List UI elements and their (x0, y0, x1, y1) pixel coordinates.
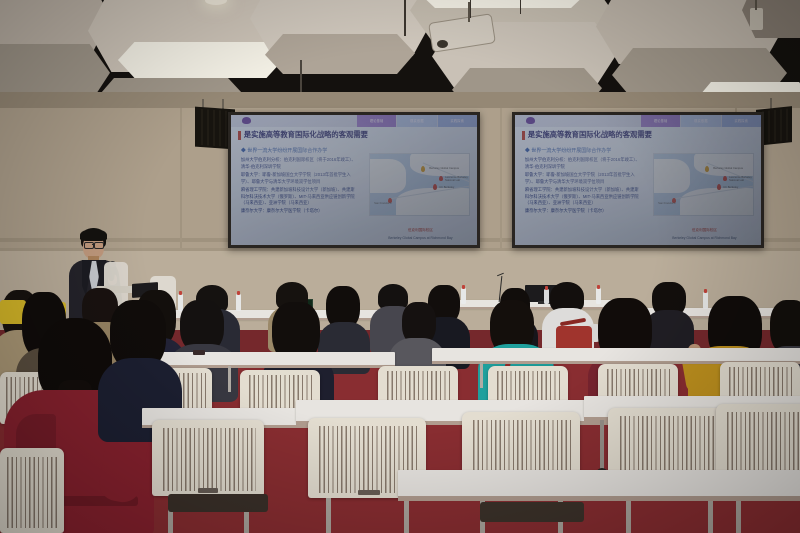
slide-right-bullet-1: 加州大学伯克利分校：伯克利国际校区（将于2016年竣工）、清华-伯克利深圳学院 (525, 157, 643, 169)
slide-left-tab-2: 现实依据 (397, 115, 436, 127)
slide-left-map-caption-cn: 伯克利国际校区 (371, 228, 469, 233)
table-foreground (398, 470, 800, 498)
slide-right-bullet-4: 康奈尔大学：康奈尔大学医学院（卡塔尔） (525, 208, 643, 214)
map-pin-berkeley-global-campus (421, 166, 425, 172)
seat-cushion (168, 494, 268, 512)
slide-left-bullets: 加州大学伯克利分校：伯克利国际校区（将于2016年竣工）、清华-伯克利深圳学院 … (241, 157, 359, 217)
slide-left-title: 是实施高等教育国际化战略的客观需要 (244, 130, 368, 140)
slide-left-bullet-3: 麻省理工学院：共建新加坡科技设计大学（新加坡）、共建斯科尔科沃技术大学（俄罗斯）… (241, 187, 359, 206)
slide-left-bullet-1: 加州大学伯克利分校：伯克利国际校区（将于2016年竣工）、清华-伯克利深圳学院 (241, 157, 359, 169)
slide-right-tab-3: 实践探索 (722, 115, 761, 127)
smartphone-on-table (193, 350, 205, 355)
slide-left-map: Berkeley Global Campus Lawrence Berkeley… (369, 153, 469, 217)
ceiling-light-panel (118, 42, 283, 78)
slide-left-topbar: 理论基础 现实依据 实践探索 (231, 115, 477, 127)
slide-right-title: 是实施高等教育国际化战略的客观需要 (528, 130, 652, 140)
water-bottle (544, 289, 549, 304)
slide-right-bullet-3: 麻省理工学院：共建新加坡科技设计大学（新加坡）、共建斯科尔科沃技术大学（俄罗斯）… (525, 187, 643, 206)
slide-left-tab-1: 理论基础 (357, 115, 396, 127)
seat-cushion (480, 502, 584, 522)
lecture-hall-photo: 理论基础 现实依据 实践探索 是实施高等教育国际化战略的客观需要 ◆ 世界一流大… (0, 0, 800, 533)
slide-right-tab-2: 现实依据 (681, 115, 720, 127)
slide-left-title-row: 是实施高等教育国际化战略的客观需要 (238, 130, 368, 140)
water-bottle (236, 294, 241, 311)
slide-right-tab-1: 理论基础 (641, 115, 680, 127)
map-pin-berkeley-global-campus (705, 166, 709, 172)
projection-screen-right: 理论基础 现实依据 实践探索 是实施高等教育国际化战略的客观需要 ◆ 世界一流大… (512, 112, 764, 248)
slide-left-bullet-2: 耶鲁大学：耶鲁-新加坡国立大学学院（2013年首批学生入学）、耶鲁大学与清华大学… (241, 172, 359, 184)
projector-lens (437, 40, 448, 48)
slide-right-topbar: 理论基础 现实依据 实践探索 (515, 115, 761, 127)
slide-right-map-caption-cn: 伯克利国际校区 (655, 228, 753, 233)
slide-left-subtitle: ◆ 世界一流大学纷纷开展国际合作办学 (241, 147, 327, 154)
water-bottle (596, 288, 601, 304)
slide-right-logo (515, 115, 547, 127)
slide-right-subtitle: ◆ 世界一流大学纷纷开展国际合作办学 (525, 147, 611, 154)
slide-right-map: Berkeley Global Campus Lawrence Berkeley… (653, 153, 753, 217)
slide-right-title-row: 是实施高等教育国际化战略的客观需要 (522, 130, 652, 140)
slide-right-bullets: 加州大学伯克利分校：伯克利国际校区（将于2016年竣工）、清华-伯克利深圳学院 … (525, 157, 643, 217)
projection-screen-left: 理论基础 现实依据 实践探索 是实施高等教育国际化战略的客观需要 ◆ 世界一流大… (228, 112, 480, 248)
ceiling-light-panel-2 (418, 0, 588, 8)
slide-right-map-caption-en: Berkeley Global Campus at Richmond Bay (655, 236, 753, 240)
slide-left-logo (231, 115, 263, 127)
map-pin-uc-berkeley (717, 184, 721, 190)
slide-left-tab-3: 实践探索 (438, 115, 477, 127)
table-mid-right (432, 348, 800, 362)
water-bottle (461, 288, 466, 304)
map-pin-uc-berkeley (433, 184, 437, 190)
slide-right-bullet-2: 耶鲁大学：耶鲁-新加坡国立大学学院（2013年首批学生入学）、耶鲁大学与清华大学… (525, 172, 643, 184)
slide-left-bullet-4: 康奈尔大学：康奈尔大学医学院（卡塔尔） (241, 208, 359, 214)
table-mid-left (145, 352, 395, 366)
slide-left-map-caption-en: Berkeley Global Campus at Richmond Bay (371, 236, 469, 240)
water-bottle (703, 292, 708, 309)
ceiling-cylinder-light (750, 8, 763, 30)
